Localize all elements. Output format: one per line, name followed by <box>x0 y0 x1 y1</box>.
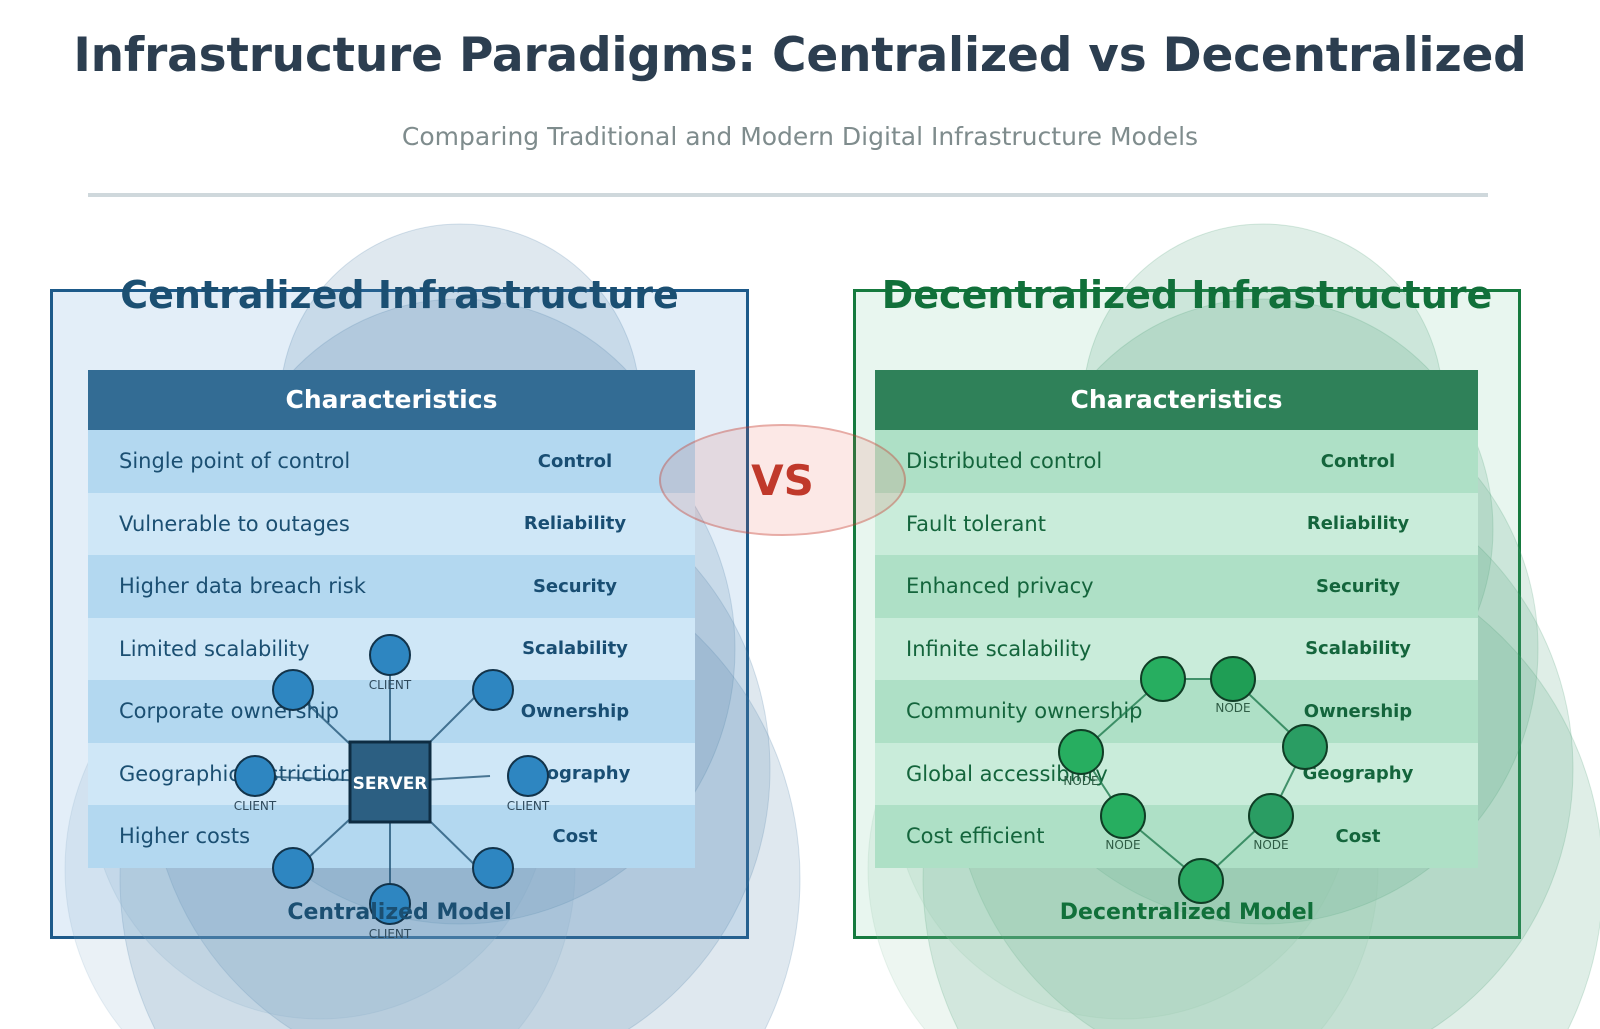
row-text: Infinite scalability <box>906 618 1091 681</box>
row-text: Enhanced privacy <box>906 555 1094 618</box>
panel-centralized: Centralized Infrastructure Characteristi… <box>50 289 749 939</box>
table-row[interactable]: Limited scalability Scalability <box>88 618 695 681</box>
characteristics-table-centralized: Characteristics Single point of control … <box>88 370 695 868</box>
row-text: Distributed control <box>906 430 1102 493</box>
page-subtitle: Comparing Traditional and Modern Digital… <box>0 122 1600 151</box>
row-text: Corporate ownership <box>119 680 339 743</box>
row-text: Limited scalability <box>119 618 310 681</box>
vs-badge-label: VS <box>659 424 906 536</box>
table-row[interactable]: Infinite scalability Scalability <box>875 618 1478 681</box>
vs-badge: VS <box>659 424 906 536</box>
row-category: Scalability <box>1238 618 1478 681</box>
panel-footer-centralized: Centralized Model <box>50 900 749 925</box>
row-category: Security <box>1238 555 1478 618</box>
row-category: Control <box>1238 430 1478 493</box>
row-category: Ownership <box>455 680 695 743</box>
panel-decentralized: Decentralized Infrastructure Characteris… <box>853 289 1521 939</box>
characteristics-table-decentralized: Characteristics Distributed control Cont… <box>875 370 1478 868</box>
row-category: Geography <box>455 743 695 806</box>
page-title: Infrastructure Paradigms: Centralized vs… <box>0 28 1600 83</box>
table-row[interactable]: Enhanced privacy Security <box>875 555 1478 618</box>
row-text: Fault tolerant <box>906 493 1046 556</box>
row-text: Global accessibility <box>906 743 1108 806</box>
table-row[interactable]: Geographic restrictions Geography <box>88 743 695 806</box>
table-row[interactable]: Corporate ownership Ownership <box>88 680 695 743</box>
table-header-centralized: Characteristics <box>88 370 695 430</box>
table-row[interactable]: Fault tolerant Reliability <box>875 493 1478 556</box>
row-category: Ownership <box>1238 680 1478 743</box>
row-category: Reliability <box>1238 493 1478 556</box>
row-text: Geographic restrictions <box>119 743 364 806</box>
row-text: Community ownership <box>906 680 1143 743</box>
panel-heading-decentralized: Decentralized Infrastructure <box>853 273 1521 317</box>
table-row[interactable]: Cost efficient Cost <box>875 805 1478 868</box>
row-text: Higher data breach risk <box>119 555 366 618</box>
table-header-decentralized: Characteristics <box>875 370 1478 430</box>
table-row[interactable]: Community ownership Ownership <box>875 680 1478 743</box>
row-category: Geography <box>1238 743 1478 806</box>
table-row[interactable]: Higher data breach risk Security <box>88 555 695 618</box>
table-row[interactable]: Higher costs Cost <box>88 805 695 868</box>
row-category: Scalability <box>455 618 695 681</box>
panel-heading-centralized: Centralized Infrastructure <box>50 273 749 317</box>
row-category: Security <box>455 555 695 618</box>
row-category: Cost <box>1238 805 1478 868</box>
row-text: Cost efficient <box>906 805 1044 868</box>
table-row[interactable]: Vulnerable to outages Reliability <box>88 493 695 556</box>
row-text: Vulnerable to outages <box>119 493 350 556</box>
row-category: Cost <box>455 805 695 868</box>
table-row[interactable]: Single point of control Control <box>88 430 695 493</box>
panel-footer-decentralized: Decentralized Model <box>853 900 1521 925</box>
title-divider <box>88 193 1488 197</box>
header: Infrastructure Paradigms: Centralized vs… <box>0 0 1600 200</box>
row-text: Higher costs <box>119 805 250 868</box>
row-text: Single point of control <box>119 430 350 493</box>
table-row[interactable]: Distributed control Control <box>875 430 1478 493</box>
table-row[interactable]: Global accessibility Geography <box>875 743 1478 806</box>
